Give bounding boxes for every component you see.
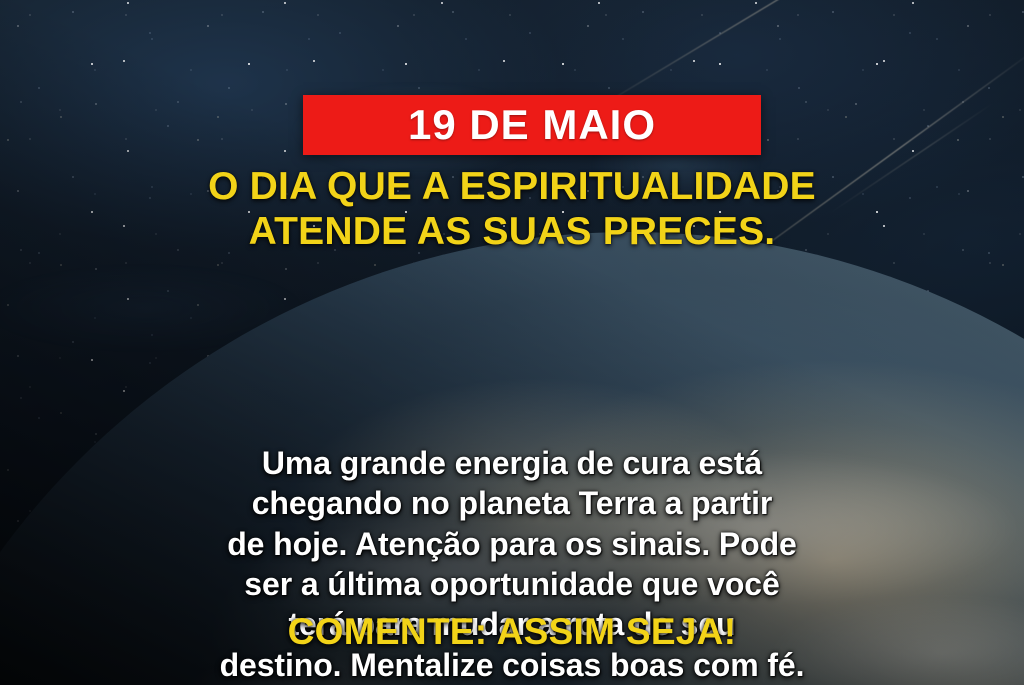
- headline-line-1: O DIA QUE A ESPIRITUALIDADE: [0, 164, 1024, 209]
- poster-canvas: 19 DE MAIO O DIA QUE A ESPIRITUALIDADE A…: [0, 0, 1024, 685]
- call-to-action-label: COMENTE: ASSIM SEJA!: [288, 611, 737, 652]
- date-banner: 19 DE MAIO: [303, 95, 761, 155]
- headline-line-2: ATENDE AS SUAS PRECES.: [0, 209, 1024, 254]
- body-line-4: ser a última oportunidade que você: [0, 564, 1024, 604]
- body-line-3: de hoje. Atenção para os sinais. Pode: [0, 524, 1024, 564]
- date-banner-label: 19 DE MAIO: [408, 104, 656, 146]
- call-to-action: COMENTE: ASSIM SEJA!: [0, 612, 1024, 653]
- headline: O DIA QUE A ESPIRITUALIDADE ATENDE AS SU…: [0, 164, 1024, 254]
- body-line-2: chegando no planeta Terra a partir: [0, 483, 1024, 523]
- body-line-1: Uma grande energia de cura está: [0, 443, 1024, 483]
- poster-content: 19 DE MAIO O DIA QUE A ESPIRITUALIDADE A…: [0, 0, 1024, 685]
